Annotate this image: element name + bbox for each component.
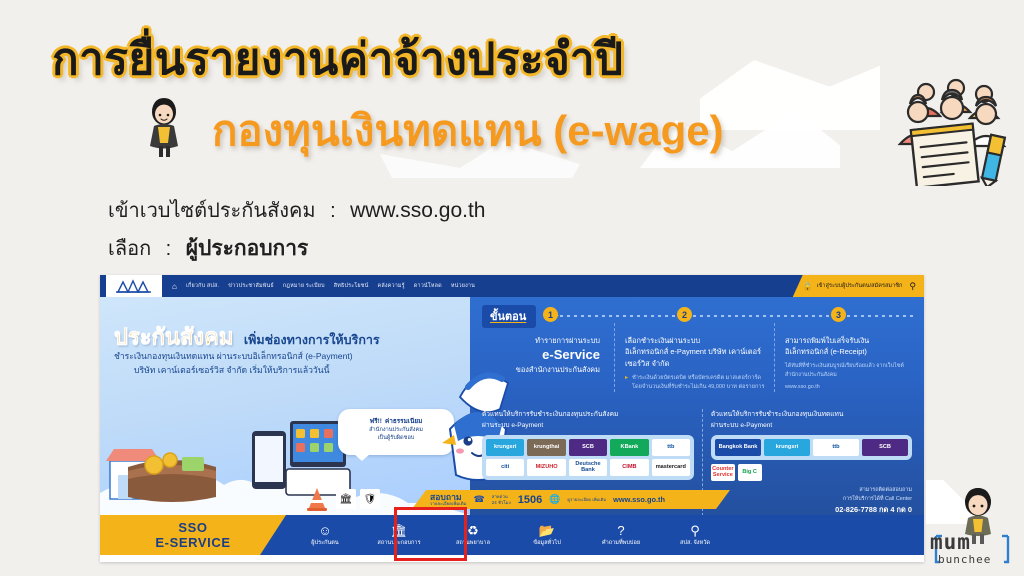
steps-title: ขั้นตอน <box>482 305 536 328</box>
instruction-label: เลือก <box>108 238 151 260</box>
step-3: 3 สามารถพิมพ์ใบเสร็จรับเงิน อิเล็กทรอนิก… <box>774 323 920 392</box>
instruction-separator: : <box>156 238 182 260</box>
store-logo: Counter Service <box>711 464 735 481</box>
step-number-badge: 3 <box>831 307 846 322</box>
steps-columns: 1 ทำรายการผ่านระบบ e-Service ของสำนักงาน… <box>474 323 920 392</box>
eservice-tab-line-2: E-SERVICE <box>155 535 230 550</box>
bank-logo: citi <box>486 459 524 476</box>
agents-left-logo-box: krungsri krungthai SCB KBank ttb citi MI… <box>482 435 694 480</box>
people-with-document-illustration <box>860 74 1020 186</box>
free-badge-fee-text: ค่าธรรมเนียม <box>385 418 422 425</box>
agents-right-heading-l1: ตัวแทนให้บริการรับชำระเงินกองทุนเงินทดแท… <box>711 411 843 418</box>
banner-title-sub: เพิ่มช่องทางการให้บริการ <box>244 333 380 347</box>
eservice-item-label: ผู้ประกันตน <box>311 539 339 547</box>
search-icon[interactable]: ⚲ <box>909 281 916 292</box>
lock-icon: 🔒 <box>803 282 813 291</box>
agents-left-heading-l2: ผ่านระบบ e-Payment <box>482 422 543 429</box>
banner-title-main: ประกันสังคม <box>114 324 233 349</box>
watermark-line-1: mum <box>930 533 1016 553</box>
instruction-value-menu: ผู้ประกอบการ <box>186 237 309 260</box>
step-number-badge: 2 <box>677 307 692 322</box>
question-icon: ? <box>617 524 624 537</box>
login-button[interactable]: 🔒 เข้าสู่ระบบผู้ประกันตน/สมัครสมาชิก ⚲ <box>793 275 924 297</box>
contact-ask: สอบถาม รายละเอียดเพิ่มเติม <box>430 493 467 507</box>
bank-logo: MIZUHO <box>527 459 565 476</box>
steps-section: ขั้นตอน ▸▸ 1 ทำรายการผ่านระบบ e-Service … <box>474 305 920 425</box>
agents-right-logo-box: Bangkok Bank krungsri ttb SCB <box>711 435 912 460</box>
step-3-note: ได้ทันทีที่ชำระเงินสมบูรณ์เรียบร้อยแล้ว … <box>785 362 912 379</box>
free-badge-free-text: ฟรี!! <box>370 418 382 425</box>
bank-logo: CIMB <box>610 459 648 476</box>
step-3-text-before: สามารถพิมพ์ใบเสร็จรับเงิน <box>785 335 912 346</box>
step-1: 1 ทำรายการผ่านระบบ e-Service ของสำนักงาน… <box>474 323 614 392</box>
hotline-label: สายด่วน 24 ชั่วโมง <box>492 494 511 505</box>
map-pin-icon: ⚲ <box>690 524 700 537</box>
eservice-bar: SSO E-SERVICE ☺ ผู้ประกันตน 🏛 สถานประกอบ… <box>100 515 924 562</box>
callcenter-line-2: การให้บริการได้ที่ Call Center <box>711 495 912 504</box>
hotline-label-l1: สายด่วน <box>492 494 508 499</box>
agents-left-heading-l1: ตัวแทนให้บริการรับชำระเงินกองทุนประกันสั… <box>482 411 618 418</box>
garuda-seal-icon: 🛡 <box>360 489 380 509</box>
agents-left-logo-row-1: krungsri krungthai SCB KBank ttb <box>486 439 690 456</box>
steps-title-text: ขั้นตอน <box>490 311 526 323</box>
agents-right-heading: ตัวแทนให้บริการรับชำระเงินกองทุนเงินทดแท… <box>711 409 912 431</box>
bank-logo: SCB <box>862 439 908 456</box>
bank-logo: SCB <box>569 439 607 456</box>
hotline-number: 1506 <box>518 494 542 506</box>
hotline-label-l2: 24 ชั่วโมง <box>492 500 511 505</box>
instruction-value-url: www.sso.go.th <box>350 199 485 222</box>
step-3-text-after: อิเล็กทรอนิกส์ (e-Receipt) <box>785 346 912 357</box>
bank-logo: krungsri <box>764 439 810 456</box>
globe-icon: 🌐 <box>549 494 560 505</box>
card-logo: mastercard <box>652 459 690 476</box>
step-2-bullet: ชำระเงินด้วยบัตรเดบิต หรือบัตรเครดิต มาส… <box>625 374 766 392</box>
step-2-text-after: อิเล็กทรอนิกส์ e-Payment บริษัท เคาน์เตอ… <box>625 346 766 369</box>
government-seal-icons: 🏛 🛡 <box>336 489 380 509</box>
instruction-label: เข้าเวบไซต์ประกันสังคม <box>108 200 316 222</box>
banner-subtitle-1: ชำระเงินกองทุนเงินทดแทน ผ่านระบบอิเล็กทร… <box>114 349 353 363</box>
eservice-item-insured-person[interactable]: ☺ ผู้ประกันตน <box>288 515 362 555</box>
nav-item-about[interactable]: เกี่ยวกับ สปส. <box>186 282 219 290</box>
steps-dotted-line <box>560 315 916 317</box>
page-title: การยื่นรายงานค่าจ้างประจำปี <box>52 24 623 94</box>
highlight-box-establishment <box>394 507 467 561</box>
eservice-item-label: คำถามที่พบบ่อย <box>602 539 640 547</box>
agents-right-heading-l2: ผ่านระบบ e-Payment <box>711 422 772 429</box>
nav-item-download[interactable]: ดาวน์โหลด <box>414 282 442 290</box>
navbar-menu: ⌂ เกี่ยวกับ สปส. ข่าวประชาสัมพันธ์ กฎหมา… <box>172 275 475 297</box>
bank-logo: KBank <box>610 439 648 456</box>
watermark-line-2: bunchee <box>938 553 1016 566</box>
ministry-seal-icon: 🏛 <box>336 489 356 509</box>
login-label: เข้าสู่ระบบผู้ประกันตน/สมัครสมาชิก <box>817 282 903 290</box>
step-1-text-after: ของสำนักงานประกันสังคม <box>484 364 600 375</box>
folder-icon: 📂 <box>539 524 555 537</box>
agents-right-logo-row-1: Bangkok Bank krungsri ttb SCB <box>715 439 908 456</box>
home-icon[interactable]: ⌂ <box>172 282 177 291</box>
step-2-text-before: เลือกชำระเงินผ่านระบบ <box>625 335 766 346</box>
bank-logo: ttb <box>813 439 859 456</box>
nav-item-benefits[interactable]: สิทธิประโยชน์ <box>334 282 369 290</box>
bank-logo: ttb <box>652 439 690 456</box>
sso-logo-icon[interactable] <box>106 275 162 299</box>
page-subtitle: กองทุนเงินทดแทน (e-wage) <box>212 98 724 164</box>
eservice-item-label: ข้อมูลทั่วไป <box>533 539 561 547</box>
instruction-line-choice: เลือก : ผู้ประกอบการ <box>108 232 308 265</box>
bank-logo: krungsri <box>486 439 524 456</box>
callcenter-line-1: สามารถติดต่อสอบถาม <box>711 486 912 495</box>
watermark-text: mum bunchee <box>930 533 1016 566</box>
instruction-separator: : <box>320 200 346 222</box>
step-1-emphasis: e-Service <box>484 347 600 363</box>
watermark-logo: mum bunchee <box>926 480 1018 572</box>
phone-icon: ☎ <box>474 494 485 505</box>
traffic-cone-icon <box>306 487 328 511</box>
agents-compensation-fund: ตัวแทนให้บริการรับชำระเงินกองทุนเงินทดแท… <box>702 409 920 515</box>
website-label: ดูรายละเอียด เพิ่มเติม <box>567 497 606 502</box>
user-icon: ☺ <box>318 524 331 537</box>
nav-item-law[interactable]: กฎหมาย ระเบียบ <box>283 282 325 290</box>
bank-logo: Deutsche Bank <box>569 459 607 476</box>
sso-website-screenshot: ⌂ เกี่ยวกับ สปส. ข่าวประชาสัมพันธ์ กฎหมา… <box>100 275 924 562</box>
agents-left-logo-row-2: citi MIZUHO Deutsche Bank CIMB mastercar… <box>486 459 690 476</box>
promo-banner: ประกันสังคม เพิ่มช่องทางการให้บริการ ชำร… <box>100 297 924 515</box>
eservice-item-general-info[interactable]: 📂 ข้อมูลทั่วไป <box>510 515 584 555</box>
eservice-tab-line-1: SSO <box>178 520 207 535</box>
nav-item-news[interactable]: ข่าวประชาสัมพันธ์ <box>228 282 274 290</box>
site-navbar: ⌂ เกี่ยวกับ สปส. ข่าวประชาสัมพันธ์ กฎหมา… <box>100 275 924 297</box>
eservice-menu: ☺ ผู้ประกันตน 🏛 สถานประกอบการ ♻ สถานพยาบ… <box>288 515 732 555</box>
callcenter-info: สามารถติดต่อสอบถาม การให้บริการได้ที่ Ca… <box>711 486 912 515</box>
eservice-item-faq[interactable]: ? คำถามที่พบบ่อย <box>584 515 658 555</box>
nav-item-knowledge[interactable]: คลังความรู้ <box>378 282 405 290</box>
instruction-line-website: เข้าเวบไซต์ประกันสังคม : www.sso.go.th <box>108 194 486 226</box>
store-logo: Big C <box>738 464 762 481</box>
eservice-tab[interactable]: SSO E-SERVICE <box>100 515 286 555</box>
step-3-url[interactable]: www.sso.go.th <box>785 383 912 392</box>
eservice-item-label: สปส. จังหวัด <box>680 539 710 547</box>
callcenter-phone: 02-826-7788 กด 4 กด 0 <box>711 504 912 515</box>
agents-left-heading: ตัวแทนให้บริการรับชำระเงินกองทุนประกันสั… <box>482 409 694 431</box>
website-url[interactable]: www.sso.go.th <box>613 495 665 504</box>
bank-logo: krungthai <box>527 439 565 456</box>
nav-item-agency[interactable]: หน่วยงาน <box>451 282 475 290</box>
hospital-icon: ♻ <box>467 524 479 537</box>
step-1-text-before: ทำรายการผ่านระบบ <box>484 335 600 346</box>
wallet-with-coins-illustration <box>124 447 220 503</box>
step-2: 2 เลือกชำระเงินผ่านระบบ อิเล็กทรอนิกส์ e… <box>614 323 774 392</box>
cartoon-woman-icon <box>138 96 190 158</box>
step-number-badge: 1 <box>543 307 558 322</box>
contact-ask-sub: รายละเอียดเพิ่มเติม <box>430 502 467 507</box>
eservice-item-provincial-office[interactable]: ⚲ สปส. จังหวัด <box>658 515 732 555</box>
banner-subtitle-2: บริษัท เคาน์เตอร์เซอร์วิส จำกัด เริ่มให้… <box>134 363 330 377</box>
slide-canvas: การยื่นรายงานค่าจ้างประจำปี กองทุนเงินทด… <box>0 0 1024 576</box>
agents-right-logo-row-2: Counter Service Big C <box>711 464 815 481</box>
bank-logo: Bangkok Bank <box>715 439 761 456</box>
